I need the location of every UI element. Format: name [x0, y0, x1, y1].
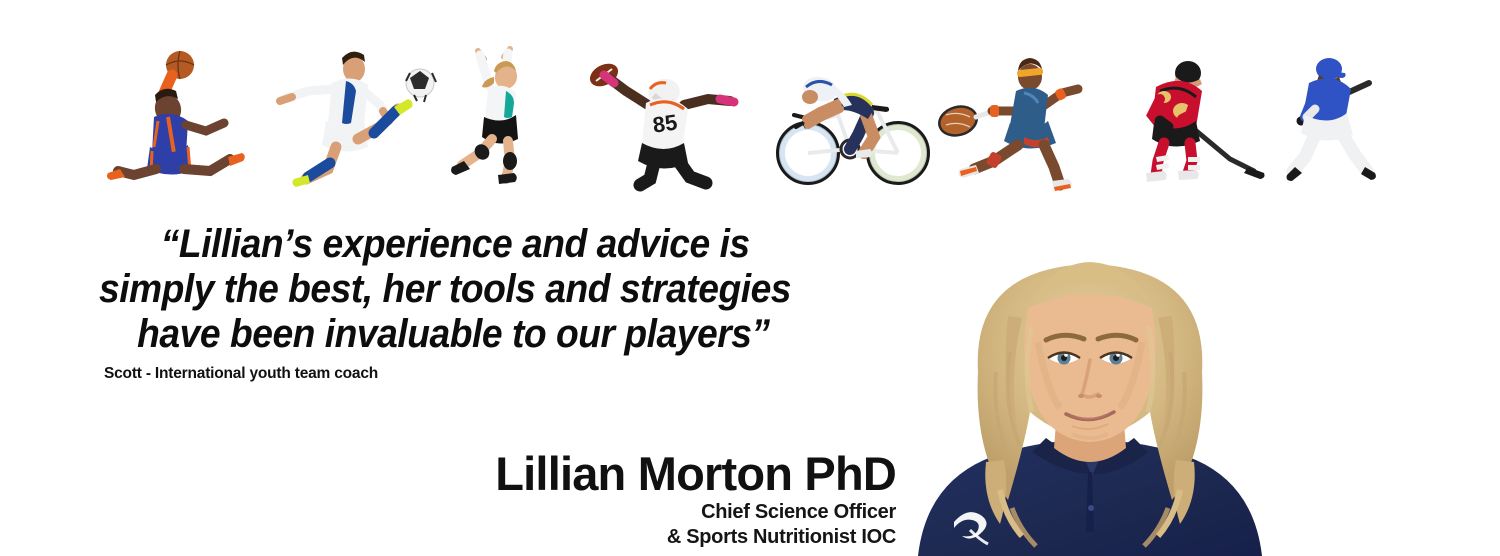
quote-attribution: Scott - International youth team coach [0, 365, 890, 383]
ice-hockey-player-figure [1130, 51, 1266, 187]
person-role-line-1: Chief Science Officer [300, 500, 896, 525]
quote-line-1: “Lillian’s experience and advice is [31, 222, 859, 267]
person-role-line-2: & Sports Nutritionist IOC [300, 525, 896, 550]
portrait-photo [900, 222, 1280, 556]
testimonial-banner: 85 [0, 0, 1500, 556]
american-football-player-figure: 85 [580, 53, 746, 187]
cyclist-figure [780, 49, 928, 191]
tennis-player-figure [938, 49, 1088, 193]
testimonial-quote: “Lillian’s experience and advice is simp… [0, 222, 890, 383]
athlete-strip: 85 [0, 0, 1500, 205]
soccer-player-figure [262, 47, 440, 191]
volleyball-player-figure [448, 43, 554, 187]
quote-line-3: have been invaluable to our players” [31, 312, 859, 357]
person-name: Lillian Morton PhD [300, 448, 896, 500]
person-identity-block: Lillian Morton PhD Chief Science Officer… [300, 448, 896, 550]
jersey-number: 85 [651, 109, 679, 137]
baseball-player-figure [1285, 45, 1403, 187]
quote-line-2: simply the best, her tools and strategie… [31, 267, 859, 312]
basketball-player-figure [106, 47, 248, 183]
